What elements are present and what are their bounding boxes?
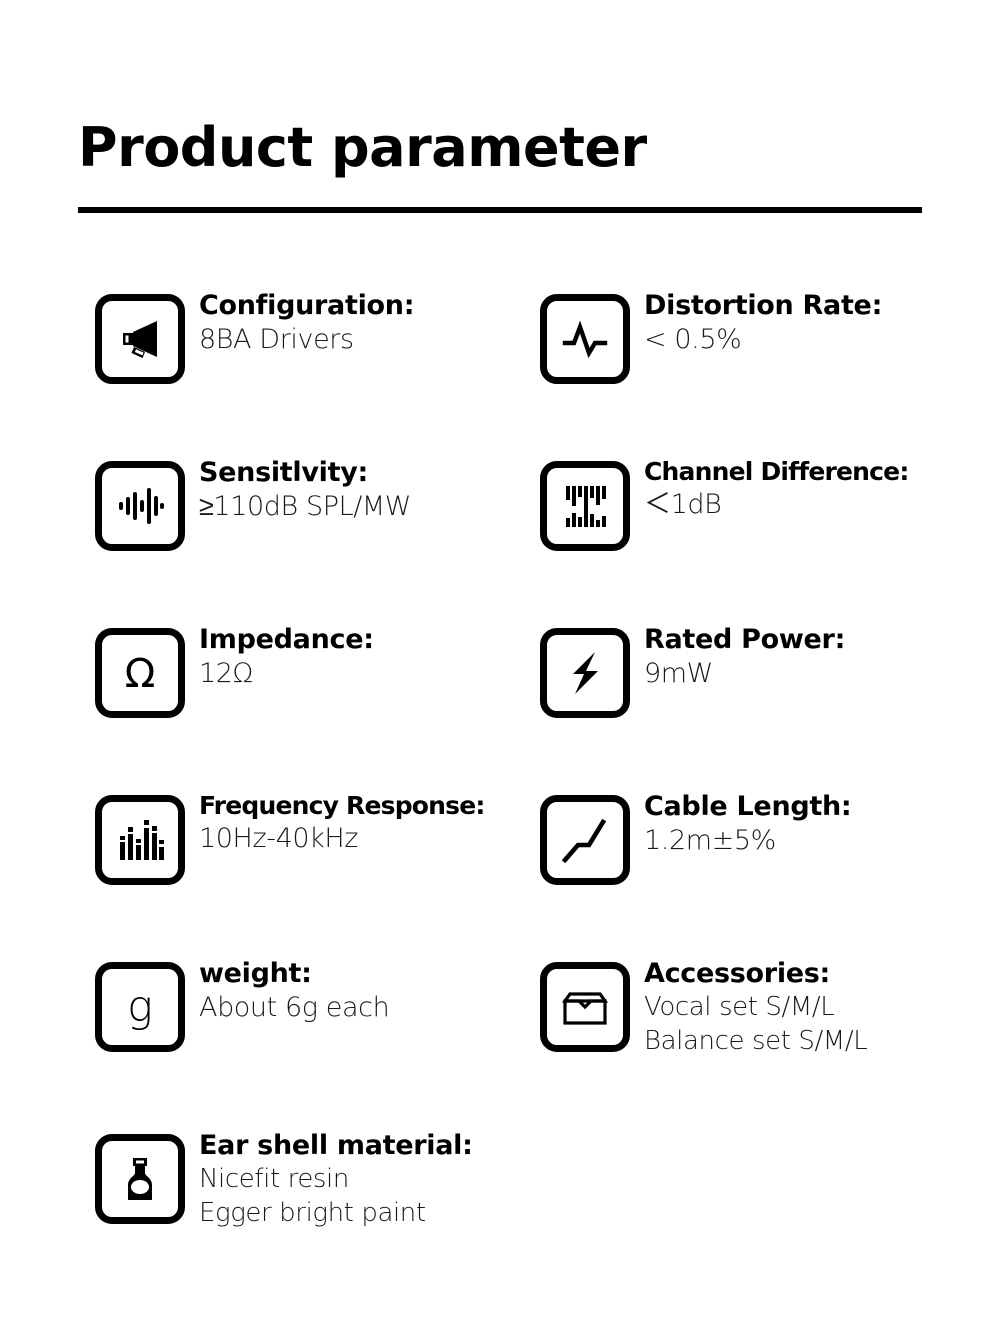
spec-value: 10Hz-40kHz bbox=[199, 821, 485, 857]
spec-value: About 6g each bbox=[199, 990, 389, 1026]
spec-item-impedance: Ω Impedance: 12Ω bbox=[95, 622, 525, 718]
spec-value: Egger bright paint bbox=[199, 1196, 473, 1231]
spec-text: Rated Power: 9mW bbox=[644, 622, 845, 692]
spec-item-weight: g weight: About 6g each bbox=[95, 956, 525, 1052]
spec-row: Ω Impedance: 12Ω Rated Power: 9mW bbox=[0, 622, 1000, 789]
spec-item-accessories: Accessories: Vocal set S/M/L Balance set… bbox=[540, 956, 960, 1059]
spec-text: Impedance: 12Ω bbox=[199, 622, 374, 692]
spec-value: 1.2m±5% bbox=[644, 823, 851, 859]
inbox-tray-icon bbox=[540, 962, 630, 1052]
spec-label: weight: bbox=[199, 958, 389, 990]
page-title: Product parameter bbox=[78, 120, 922, 177]
spec-item-frequency-response: Frequency Response: 10Hz-40kHz bbox=[95, 789, 525, 885]
spec-value: 9mW bbox=[644, 656, 845, 692]
megaphone-icon bbox=[95, 294, 185, 384]
spec-value: < 0.5% bbox=[644, 322, 882, 358]
spec-label: Distortion Rate: bbox=[644, 290, 882, 322]
spec-value: Balance set S/M/L bbox=[644, 1024, 867, 1059]
audio-wave-icon bbox=[95, 461, 185, 551]
spec-text: Frequency Response: 10Hz-40kHz bbox=[199, 789, 485, 856]
equalizer-bars-icon bbox=[95, 795, 185, 885]
spec-text: Accessories: Vocal set S/M/L Balance set… bbox=[644, 956, 867, 1059]
spec-item-channel-difference: Channel Difference: ＜1dB bbox=[540, 455, 960, 551]
spec-label: Ear shell material: bbox=[199, 1130, 473, 1162]
product-parameter-page: Product parameter Configuration: 8B bbox=[0, 0, 1000, 1320]
bottle-icon bbox=[95, 1134, 185, 1224]
spec-item-rated-power: Rated Power: 9mW bbox=[540, 622, 960, 718]
title-divider bbox=[78, 207, 922, 213]
spec-text: Cable Length: 1.2m±5% bbox=[644, 789, 851, 859]
omega-icon: Ω bbox=[95, 628, 185, 718]
spec-value: ≥110dB SPL/MW bbox=[199, 489, 411, 525]
spec-text: Channel Difference: ＜1dB bbox=[644, 455, 909, 522]
spec-row: Sensitlvity: ≥110dB SPL/MW bbox=[0, 455, 1000, 622]
spec-row: g weight: About 6g each bbox=[0, 956, 1000, 1128]
lightning-bolt-icon bbox=[540, 628, 630, 718]
spec-text: weight: About 6g each bbox=[199, 956, 389, 1026]
spec-grid: Configuration: 8BA Drivers Distortion Ra… bbox=[0, 288, 1000, 1300]
spec-label: Frequency Response: bbox=[199, 791, 485, 821]
spec-item-distortion-rate: Distortion Rate: < 0.5% bbox=[540, 288, 960, 384]
spec-item-configuration: Configuration: 8BA Drivers bbox=[95, 288, 525, 384]
spec-label: Configuration: bbox=[199, 290, 414, 322]
spec-text: Distortion Rate: < 0.5% bbox=[644, 288, 882, 358]
spec-item-cable-length: Cable Length: 1.2m±5% bbox=[540, 789, 960, 885]
svg-text:Ω: Ω bbox=[125, 651, 156, 697]
spec-item-sensitivity: Sensitlvity: ≥110dB SPL/MW bbox=[95, 455, 525, 551]
spec-label: Rated Power: bbox=[644, 624, 845, 656]
page-header: Product parameter bbox=[78, 120, 922, 213]
cable-line-icon bbox=[540, 795, 630, 885]
spec-value: ＜1dB bbox=[644, 487, 909, 523]
spec-label: Cable Length: bbox=[644, 791, 851, 823]
spec-row: Frequency Response: 10Hz-40kHz Cable Len… bbox=[0, 789, 1000, 956]
spec-text: Configuration: 8BA Drivers bbox=[199, 288, 414, 358]
spec-item-ear-shell-material: Ear shell material: Nicefit resin Egger … bbox=[95, 1128, 525, 1231]
waveform-pulse-icon bbox=[540, 294, 630, 384]
spec-label: Channel Difference: bbox=[644, 457, 909, 487]
spec-text: Sensitlvity: ≥110dB SPL/MW bbox=[199, 455, 411, 525]
spec-row: Ear shell material: Nicefit resin Egger … bbox=[0, 1128, 1000, 1300]
spec-label: Sensitlvity: bbox=[199, 457, 411, 489]
spec-label: Impedance: bbox=[199, 624, 374, 656]
dual-bars-icon bbox=[540, 461, 630, 551]
spec-value: 12Ω bbox=[199, 656, 374, 692]
svg-text:g: g bbox=[127, 982, 153, 1032]
spec-value: Nicefit resin bbox=[199, 1162, 473, 1197]
spec-value: Vocal set S/M/L bbox=[644, 990, 867, 1025]
spec-row: Configuration: 8BA Drivers Distortion Ra… bbox=[0, 288, 1000, 455]
spec-label: Accessories: bbox=[644, 958, 867, 990]
spec-value: 8BA Drivers bbox=[199, 322, 414, 358]
spec-text: Ear shell material: Nicefit resin Egger … bbox=[199, 1128, 473, 1231]
gram-letter-icon: g bbox=[95, 962, 185, 1052]
